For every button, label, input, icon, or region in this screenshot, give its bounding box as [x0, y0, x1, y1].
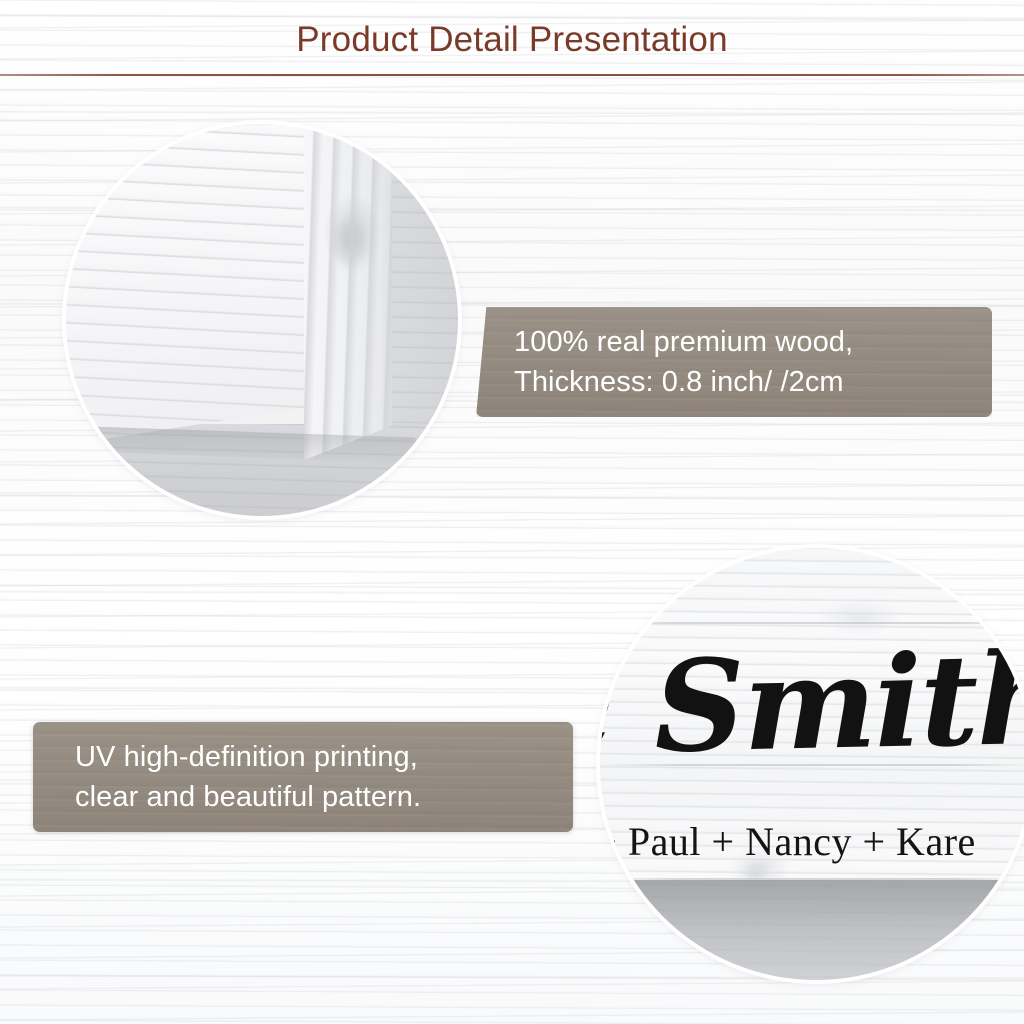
wood-quality-caption-line-1: 100% real premium wood,	[514, 322, 992, 362]
board-front-face	[66, 124, 306, 454]
title-divider	[0, 74, 1024, 76]
page-title: Product Detail Presentation	[0, 18, 1024, 62]
sign-plank-seam-top	[600, 622, 1024, 624]
wood-quality-caption-banner: 100% real premium wood, Thickness: 0.8 i…	[476, 307, 992, 417]
sign-family-member-names: el + Paul + Nancy + Kare	[600, 820, 1024, 864]
page-header: Product Detail Presentation	[0, 0, 1024, 78]
sign-family-name-script: e Smith F	[600, 634, 1024, 773]
board-edge-thickness-photo	[66, 124, 458, 516]
sign-bottom-shadow	[600, 880, 1024, 980]
uv-printing-caption-banner: UV high-definition printing, clear and b…	[33, 722, 573, 832]
wood-quality-caption-line-2: Thickness: 0.8 inch/ /2cm	[514, 362, 992, 402]
board-side-edge	[304, 124, 392, 460]
uv-printing-caption-line-2: clear and beautiful pattern.	[75, 777, 573, 817]
product-detail-page: Product Detail Presentation 100% real pr…	[0, 0, 1024, 1024]
family-sign-closeup-photo: e Smith F el + Paul + Nancy + Kare	[600, 548, 1024, 980]
uv-printing-caption-line-1: UV high-definition printing,	[75, 737, 573, 777]
